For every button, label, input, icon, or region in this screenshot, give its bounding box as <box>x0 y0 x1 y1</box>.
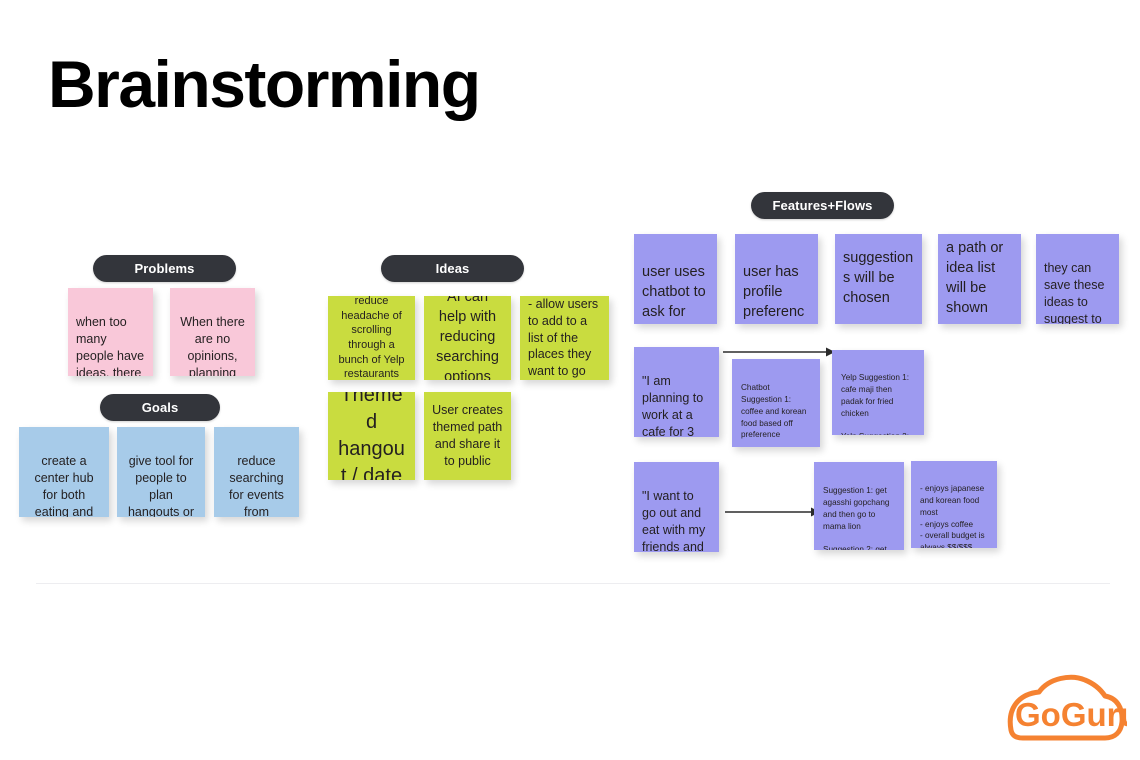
note-flow2-prompt[interactable]: "I want to go out and eat with my friend… <box>634 462 719 552</box>
page-title: Brainstorming <box>48 50 480 119</box>
note-text: "I am planning to work at a cafe for 3 h… <box>642 374 705 437</box>
section-label-problems: Problems <box>93 255 236 282</box>
note-problems-0[interactable]: when too many people have ideas, there i… <box>68 288 153 376</box>
note-text: a path or idea list will be shown <box>946 239 1013 318</box>
note-text: give tool for people to plan hangouts or… <box>128 454 194 517</box>
note-features-2[interactable]: suggestions will be chosen <box>835 234 922 324</box>
note-ideas-1[interactable]: AI can help with reducing searching opti… <box>424 296 511 380</box>
note-text: when too many people have ideas, there i… <box>76 315 144 376</box>
note-flow2-preferences[interactable]: - enjoys japanese and korean food most -… <box>911 461 997 548</box>
note-text: - allow users to add to a list of the pl… <box>528 296 601 380</box>
note-text: create a center hub for both eating and … <box>31 454 96 517</box>
note-text: Chatbot Suggestion 1: coffee and korean … <box>741 383 806 447</box>
note-flow1-yelp-suggestions[interactable]: Yelp Suggestion 1: cafe maji then padak … <box>832 350 924 435</box>
goguru-logo: GoGuru <box>1005 668 1127 752</box>
note-features-3[interactable]: a path or idea list will be shown <box>938 234 1021 324</box>
note-flow1-prompt[interactable]: "I am planning to work at a cafe for 3 h… <box>634 347 719 437</box>
note-flow2-suggestions[interactable]: Suggestion 1: get agasshi gopchang and t… <box>814 462 904 550</box>
note-ideas-3[interactable]: Themed hangout / date <box>328 392 415 480</box>
note-ideas-2[interactable]: - allow users to add to a list of the pl… <box>520 296 609 380</box>
section-label-features-flows: Features+Flows <box>751 192 894 219</box>
flow2-arrow <box>725 506 820 518</box>
note-features-0[interactable]: user uses chatbot to ask for suggestions <box>634 234 717 324</box>
note-goals-1[interactable]: give tool for people to plan hangouts or… <box>117 427 205 517</box>
note-features-1[interactable]: user has profile preferences already <box>735 234 818 324</box>
note-text: - enjoys japanese and korean food most -… <box>920 484 985 548</box>
note-text: suggestions will be chosen <box>843 249 914 309</box>
note-features-4[interactable]: they can save these ideas to suggest to … <box>1036 234 1119 324</box>
note-ideas-0[interactable]: reduce headache of scrolling through a b… <box>328 296 415 380</box>
note-text: Themed hangout / date <box>336 392 407 480</box>
note-text: User creates themed path and share it to… <box>432 402 503 470</box>
note-problems-1[interactable]: When there are no opinions, planning bec… <box>170 288 255 376</box>
note-text: Suggestion 1: get agasshi gopchang and t… <box>823 486 894 550</box>
note-text: "I want to go out and eat with my friend… <box>642 489 711 552</box>
note-text: user has profile preferences already <box>743 264 810 324</box>
section-label-ideas: Ideas <box>381 255 524 282</box>
note-text: When there are no opinions, planning bec… <box>180 315 245 376</box>
note-ideas-4[interactable]: User creates themed path and share it to… <box>424 392 511 480</box>
note-text: they can save these ideas to suggest to … <box>1044 261 1104 324</box>
note-goals-0[interactable]: create a center hub for both eating and … <box>19 427 109 517</box>
note-text: user uses chatbot to ask for suggestions <box>642 264 706 324</box>
footer-divider <box>36 583 1110 584</box>
note-goals-2[interactable]: reduce searching for events from multipl… <box>214 427 299 517</box>
note-text: Yelp Suggestion 1: cafe maji then padak … <box>841 373 909 435</box>
note-text: AI can help with reducing searching opti… <box>432 296 503 380</box>
note-text: reduce searching for events from multipl… <box>229 454 284 517</box>
note-flow1-chatbot-suggestions[interactable]: Chatbot Suggestion 1: coffee and korean … <box>732 359 820 447</box>
section-label-goals: Goals <box>100 394 220 421</box>
flow1-arrow <box>723 346 835 358</box>
logo-text: GoGuru <box>1015 696 1127 733</box>
note-text: reduce headache of scrolling through a b… <box>336 296 407 380</box>
